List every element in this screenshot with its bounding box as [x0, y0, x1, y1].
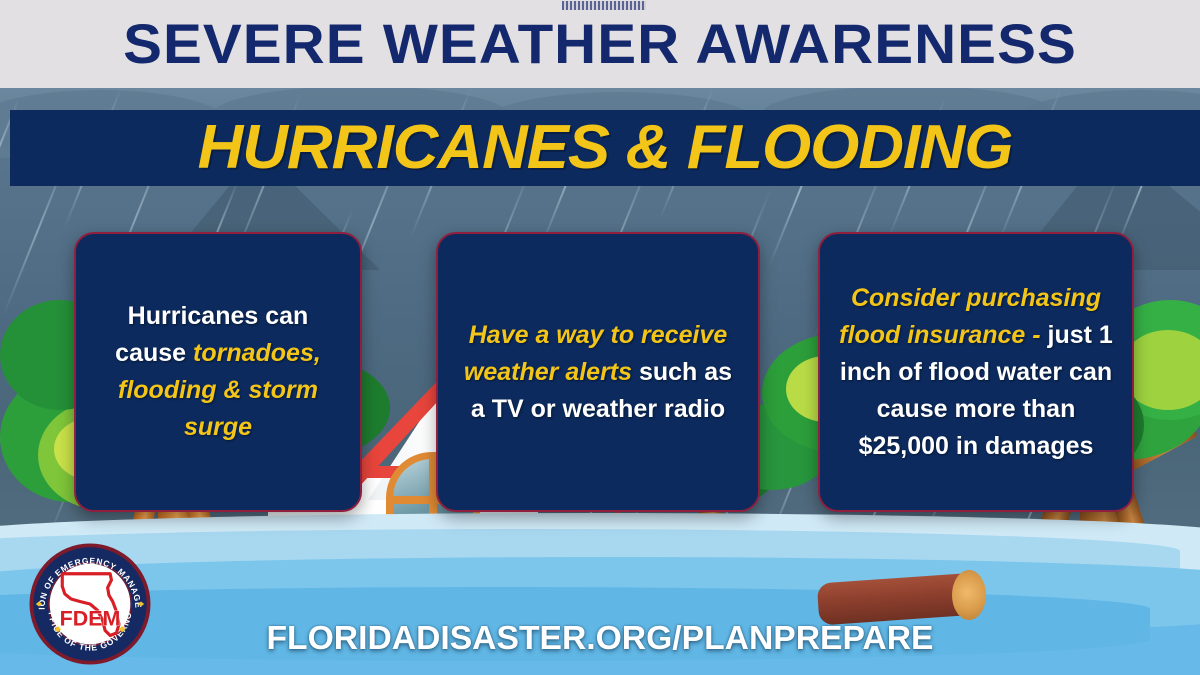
card-flood-insurance: Consider purchasing flood insurance - ju…	[818, 232, 1134, 512]
fdem-seal-logo: DIVISION OF EMERGENCY MANAGEMENT OFFICE …	[27, 541, 153, 667]
log-end-rings	[952, 570, 986, 620]
fdem-seal-svg: DIVISION OF EMERGENCY MANAGEMENT OFFICE …	[27, 541, 153, 667]
card-text: Consider purchasing flood insurance - ju…	[820, 280, 1132, 465]
severe-weather-awareness-poster: SEVERE WEATHER AWARENESS HURRICANES & FL…	[0, 0, 1200, 675]
website-url[interactable]: FLORIDADISASTER.ORG/PLANPREPARE	[0, 619, 1200, 657]
card-text: Have a way to receive weather alerts suc…	[438, 317, 758, 428]
page-subtitle: HURRICANES & FLOODING	[0, 112, 1200, 184]
card-hurricane-hazards: Hurricanes can cause tornadoes, flooding…	[74, 232, 362, 512]
seal-acronym: FDEM	[60, 606, 121, 630]
top-edge-artifact	[562, 1, 646, 10]
page-title: SEVERE WEATHER AWARENESS	[0, 13, 1200, 75]
card-weather-alerts: Have a way to receive weather alerts suc…	[436, 232, 760, 512]
card-text: Hurricanes can cause tornadoes, flooding…	[76, 298, 360, 446]
